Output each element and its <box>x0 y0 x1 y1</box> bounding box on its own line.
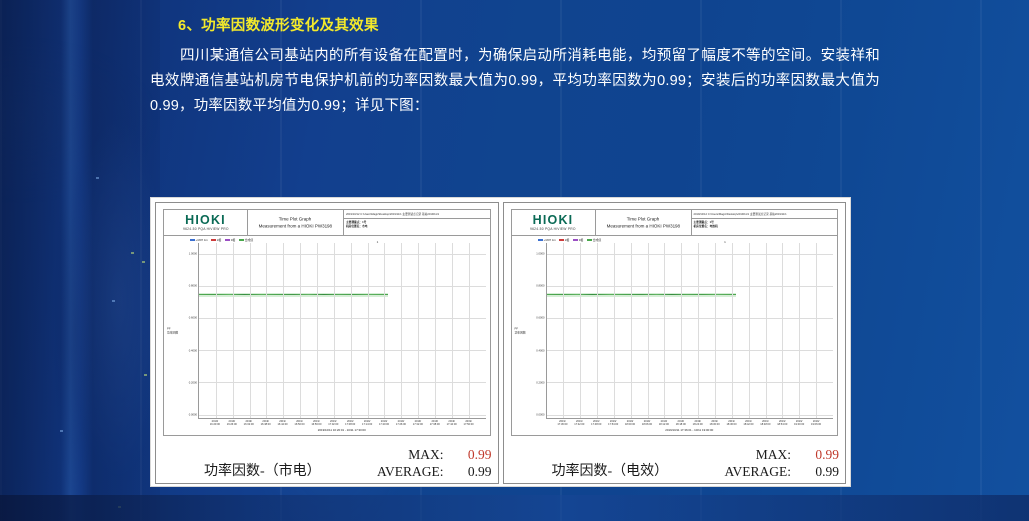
x-tick-label: 2019/17:38:00 <box>430 420 440 427</box>
report-panel-before: HIOKI 9624-50 PQA HiVIEW PRO Time Plot G… <box>155 202 499 484</box>
max-value: 0.99 <box>458 447 492 464</box>
cursor-marker: 1 <box>724 240 726 244</box>
report-meta-path: 2019/10/12 C:\Users\Magic\Desktop\2019/1… <box>692 210 838 219</box>
grid-line-horizontal <box>199 318 486 319</box>
legend-item: 合成值 <box>587 238 601 242</box>
legend-label: 2相 <box>564 238 568 242</box>
x-tick-label: 2019/18:00:00 <box>625 420 635 427</box>
y-tick-label: 0.6000 <box>189 317 197 320</box>
grid-line-vertical <box>452 243 453 418</box>
graph-sheet: HIOKI 9624-50 PQA HiVIEW PRO Time Plot G… <box>163 209 491 436</box>
hioki-logo-cell: HIOKI 9624-50 PQA HiVIEW PRO <box>512 210 596 235</box>
y-tick-label: 0.2000 <box>189 382 197 385</box>
grid-line-horizontal <box>199 382 486 383</box>
grid-line-vertical <box>233 243 234 418</box>
grid-line-vertical <box>317 243 318 418</box>
grid-line-vertical <box>283 243 284 418</box>
y-tick-label: 0.8000 <box>536 284 544 287</box>
grid-line-vertical <box>766 243 767 418</box>
grid-line-vertical <box>715 243 716 418</box>
report-title-line1: Time Plot Graph <box>627 217 660 222</box>
x-tick-label: 2019/16:20:00 <box>210 420 220 427</box>
max-label: MAX: <box>377 447 458 464</box>
x-axis: 2019/10/11 16:20:01 - 10/11 17:30:00 201… <box>198 419 486 435</box>
report-card: HIOKI 9624-50 PQA HiVIEW PRO Time Plot G… <box>150 197 851 487</box>
legend-item: +3/0H 1in <box>538 239 555 242</box>
grid-line-horizontal <box>199 286 486 287</box>
x-tick-label: 2019/16:44:00 <box>277 420 287 427</box>
x-tick-label: 2019/17:48:00 <box>591 420 601 427</box>
y-tick-label: 1.0000 <box>536 252 544 255</box>
slide-text-block: 6、功率因数波形变化及其效果 四川某通信公司基站内的所有设备在配置时，为确保启动… <box>150 14 880 119</box>
grid-line-horizontal <box>199 415 486 416</box>
grid-line-vertical <box>384 243 385 418</box>
x-tick-label: 2019/17:36:00 <box>557 420 567 427</box>
legend-label: 合成值 <box>592 238 601 242</box>
plot-area: PF 功率因数 1.00000.80000.60000.40000.20000.… <box>164 243 490 419</box>
legend-item: 2相 <box>559 238 569 242</box>
legend-label: 3相 <box>231 238 235 242</box>
y-axis-title: PF 功率因数 <box>512 243 530 419</box>
report-title-cell: Time Plot Graph Measurement from a HIOKI… <box>596 210 692 235</box>
table-row: MAX: 0.99 <box>724 447 839 464</box>
report-header: HIOKI 9624-50 PQA HiVIEW PRO Time Plot G… <box>512 210 838 236</box>
background-bottom-band <box>0 495 1029 521</box>
chart-grid: 1 <box>546 243 834 419</box>
report-title-line2: Measurement from a HIOKI PW3198 <box>606 224 679 229</box>
legend-label: +3/0H 1in <box>543 238 555 241</box>
hioki-logo: HIOKI <box>533 214 574 227</box>
x-tick-label: 2019/18:12:00 <box>659 420 669 427</box>
grid-line-horizontal <box>547 350 834 351</box>
report-meta-lines: 主要测量点：1号 机房位置名：市电 <box>344 219 490 230</box>
summary-title: 功率因数-（市电） <box>204 460 321 480</box>
x-tick-label: 2019/16:56:00 <box>311 420 321 427</box>
legend-label: 3相 <box>579 238 583 242</box>
grid-line-vertical <box>435 243 436 418</box>
legend-label: +3/0H 1in <box>195 238 207 241</box>
grid-line-vertical <box>580 243 581 418</box>
summary-title: 功率因数-（电效） <box>552 460 669 480</box>
grid-line-vertical <box>681 243 682 418</box>
grid-line-horizontal <box>547 286 834 287</box>
report-meta-cell: 2019/10/12 C:\Users\Magic\Desktop\2019/1… <box>692 210 838 235</box>
x-tick-label: 2019/18:42:00 <box>743 420 753 427</box>
table-row: MAX: 0.99 <box>377 447 492 464</box>
page-title: 6、功率因数波形变化及其效果 <box>178 14 880 35</box>
panel-summary: 功率因数-（电效） MAX: 0.99 AVERAGE: 0.99 <box>504 436 846 483</box>
grid-line-vertical <box>664 243 665 418</box>
grid-line-vertical <box>418 243 419 418</box>
grid-line-vertical <box>816 243 817 418</box>
report-title-line1: Time Plot Graph <box>279 217 312 222</box>
report-panel-after: HIOKI 9624-50 PQA HiVIEW PRO Time Plot G… <box>503 202 847 484</box>
y-axis-title: PF 功率因数 <box>164 243 182 419</box>
report-title-cell: Time Plot Graph Measurement from a HIOKI… <box>248 210 344 235</box>
x-tick-label: 2019/16:38:00 <box>261 420 271 427</box>
hioki-model-label: 9624-50 PQA HiVIEW PRO <box>183 227 229 232</box>
y-tick-label: 1.0000 <box>189 252 197 255</box>
x-tick-label: 2019/17:20:00 <box>379 420 389 427</box>
chart-legend: +3/0H 1in 2相 3相 合成值 <box>164 236 490 243</box>
grid-line-vertical <box>597 243 598 418</box>
legend-item: 3相 <box>225 238 235 242</box>
grid-line-vertical <box>250 243 251 418</box>
grid-line-vertical <box>782 243 783 418</box>
hioki-logo-cell: HIOKI 9624-50 PQA HiVIEW PRO <box>164 210 248 235</box>
x-tick-label: 2019/18:54:00 <box>777 420 787 427</box>
x-tick-label: 2019/17:42:00 <box>574 420 584 427</box>
grid-line-horizontal <box>199 254 486 255</box>
x-tick-label: 2019/17:14:00 <box>362 420 372 427</box>
legend-label: 合成值 <box>245 238 254 242</box>
average-label: AVERAGE: <box>724 464 805 481</box>
x-tick-label: 2019/18:48:00 <box>760 420 770 427</box>
x-axis-caption: 2019/10/11 16:20:01 - 10/11 17:30:00 <box>318 428 366 432</box>
grid-line-horizontal <box>547 254 834 255</box>
table-row: AVERAGE: 0.99 <box>377 464 492 481</box>
legend-item: 3相 <box>573 238 583 242</box>
meta-location-name: 机房位置名：市电 <box>346 225 488 229</box>
chart-grid: 1 <box>198 243 486 419</box>
y-tick-label: 0.4000 <box>536 349 544 352</box>
y-axis-title-line2: 功率因数 <box>167 331 178 335</box>
x-tick-label: 2019/17:26:00 <box>396 420 406 427</box>
x-tick-label: 2019/18:06:00 <box>642 420 652 427</box>
average-value: 0.99 <box>805 464 839 481</box>
grid-line-vertical <box>351 243 352 418</box>
y-axis-title-line2: 功率因数 <box>515 331 526 335</box>
body-paragraph: 四川某通信公司基站内的所有设备在配置时，为确保启动所消耗电能，均预留了幅度不等的… <box>150 44 880 119</box>
max-value: 0.99 <box>805 447 839 464</box>
y-tick-label: 0.6000 <box>536 317 544 320</box>
report-meta-lines: 主要测量点：1号 机房位置名：电效机 <box>692 219 838 230</box>
x-tick-label: 2019/16:50:00 <box>294 420 304 427</box>
average-value: 0.99 <box>458 464 492 481</box>
grid-line-vertical <box>799 243 800 418</box>
x-tick-label: 2019/19:06:00 <box>811 420 821 427</box>
grid-line-vertical <box>698 243 699 418</box>
graph-sheet: HIOKI 9624-50 PQA HiVIEW PRO Time Plot G… <box>511 209 839 436</box>
x-tick-label: 2019/17:54:00 <box>608 420 618 427</box>
cursor-marker: 1 <box>377 240 379 244</box>
legend-label: 2相 <box>217 238 221 242</box>
grid-line-vertical <box>266 243 267 418</box>
average-label: AVERAGE: <box>377 464 458 481</box>
grid-line-horizontal <box>199 350 486 351</box>
grid-line-vertical <box>749 243 750 418</box>
grid-line-vertical <box>563 243 564 418</box>
grid-line-vertical <box>300 243 301 418</box>
legend-item: 合成值 <box>239 238 253 242</box>
report-meta-cell: 2019/10/12 C:\Users\Magic\Desktop\2019/1… <box>344 210 490 235</box>
x-tick-label: 2019/18:30:00 <box>710 420 720 427</box>
hioki-model-label: 9624-50 PQA HiVIEW PRO <box>530 227 576 232</box>
data-trace-green <box>199 294 388 296</box>
summary-table: MAX: 0.99 AVERAGE: 0.99 <box>377 447 492 481</box>
grid-line-vertical <box>334 243 335 418</box>
report-meta-path: 2019/10/12 C:\Users\Magic\Desktop\2019/1… <box>344 210 490 219</box>
background-column-highlight <box>0 0 160 521</box>
grid-line-vertical <box>631 243 632 418</box>
grid-line-vertical <box>732 243 733 418</box>
hioki-logo: HIOKI <box>185 214 226 227</box>
summary-table: MAX: 0.99 AVERAGE: 0.99 <box>724 447 839 481</box>
grid-line-horizontal <box>547 318 834 319</box>
report-header: HIOKI 9624-50 PQA HiVIEW PRO Time Plot G… <box>164 210 490 236</box>
table-row: AVERAGE: 0.99 <box>724 464 839 481</box>
y-tick-label: 0.4000 <box>189 349 197 352</box>
y-tick-label: 0.0000 <box>189 414 197 417</box>
x-tick-label: 2019/17:44:00 <box>447 420 457 427</box>
legend-item: +3/0H 1in <box>190 239 207 242</box>
chart-legend: +3/0H 1in 2相 3相 合成值 <box>512 236 838 243</box>
x-tick-label: 2019/18:18:00 <box>676 420 686 427</box>
x-tick-label: 2019/16:32:00 <box>244 420 254 427</box>
report-title-line2: Measurement from a HIOKI PW3198 <box>259 224 332 229</box>
grid-line-vertical <box>469 243 470 418</box>
grid-line-vertical <box>648 243 649 418</box>
plot-area: PF 功率因数 1.00000.80000.60000.40000.20000.… <box>512 243 838 419</box>
y-tick-label: 0.2000 <box>536 382 544 385</box>
x-tick-label: 2019/18:24:00 <box>693 420 703 427</box>
grid-line-horizontal <box>547 415 834 416</box>
meta-location-name: 机房位置名：电效机 <box>694 225 836 229</box>
y-tick-label: 0.0000 <box>536 414 544 417</box>
x-tick-label: 2019/18:36:00 <box>726 420 736 427</box>
x-axis-caption: 2019/10/11 17:36:01 - 10/11 19:00:00 <box>665 428 713 432</box>
x-axis: 2019/10/11 17:36:01 - 10/11 19:00:00 201… <box>546 419 834 435</box>
grid-line-vertical <box>216 243 217 418</box>
max-label: MAX: <box>724 447 805 464</box>
x-tick-label: 2019/19:00:00 <box>794 420 804 427</box>
x-tick-label: 2019/17:50:00 <box>464 420 474 427</box>
y-tick-label: 0.8000 <box>189 284 197 287</box>
y-axis-ticks: 1.00000.80000.60000.40000.20000.0000 <box>182 243 198 419</box>
legend-item: 2相 <box>211 238 221 242</box>
y-axis-ticks: 1.00000.80000.60000.40000.20000.0000 <box>530 243 546 419</box>
grid-line-horizontal <box>547 382 834 383</box>
data-trace-green <box>547 294 736 296</box>
x-tick-label: 2019/17:02:00 <box>328 420 338 427</box>
grid-line-vertical <box>401 243 402 418</box>
x-tick-label: 2019/16:26:00 <box>227 420 237 427</box>
x-tick-label: 2019/17:08:00 <box>345 420 355 427</box>
panel-summary: 功率因数-（市电） MAX: 0.99 AVERAGE: 0.99 <box>156 436 498 483</box>
x-tick-label: 2019/17:32:00 <box>413 420 423 427</box>
grid-line-vertical <box>614 243 615 418</box>
grid-line-vertical <box>368 243 369 418</box>
